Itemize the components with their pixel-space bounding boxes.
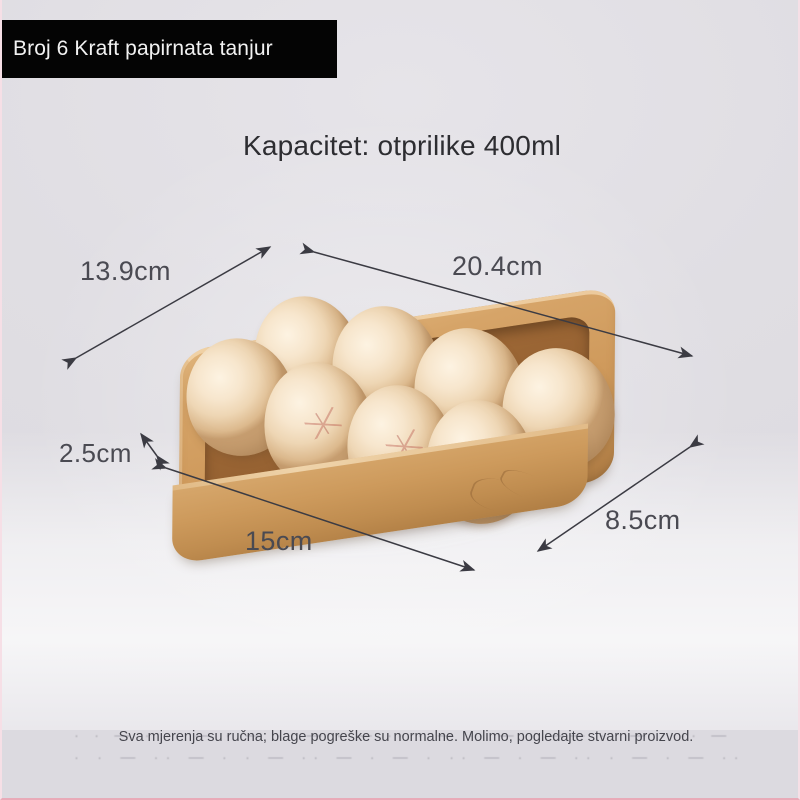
egg-stamp-mark bbox=[302, 406, 343, 441]
capacity-label: Kapacitet: otprilike 400ml bbox=[2, 130, 800, 162]
dimension-label-8-5cm: 8.5cm bbox=[605, 505, 681, 536]
dimension-label-20-4cm: 20.4cm bbox=[452, 251, 543, 282]
footer-disclaimer-area: · · — · ·· — · — ·· — · — ·· · — ·· — · … bbox=[2, 706, 800, 798]
dimension-label-2-5cm: 2.5cm bbox=[59, 438, 132, 469]
product-title: Broj 6 Kraft papirnata tanjur bbox=[2, 37, 273, 61]
measurement-disclaimer: Sva mjerenja su ručna; blage pogreške su… bbox=[80, 726, 732, 749]
product-photo bbox=[2, 0, 800, 800]
product-image-canvas: 13.9cm 20.4cm 2.5cm 15cm 8.5cm Broj 6 Kr… bbox=[0, 0, 800, 800]
dimension-label-15cm: 15cm bbox=[245, 526, 313, 557]
product-title-banner: Broj 6 Kraft papirnata tanjur bbox=[2, 20, 337, 78]
residual-text-line-2: · · — ·· — · · — ·· — · — · ·· — · — ·· … bbox=[74, 749, 742, 766]
dimension-label-13-9cm: 13.9cm bbox=[80, 256, 171, 287]
